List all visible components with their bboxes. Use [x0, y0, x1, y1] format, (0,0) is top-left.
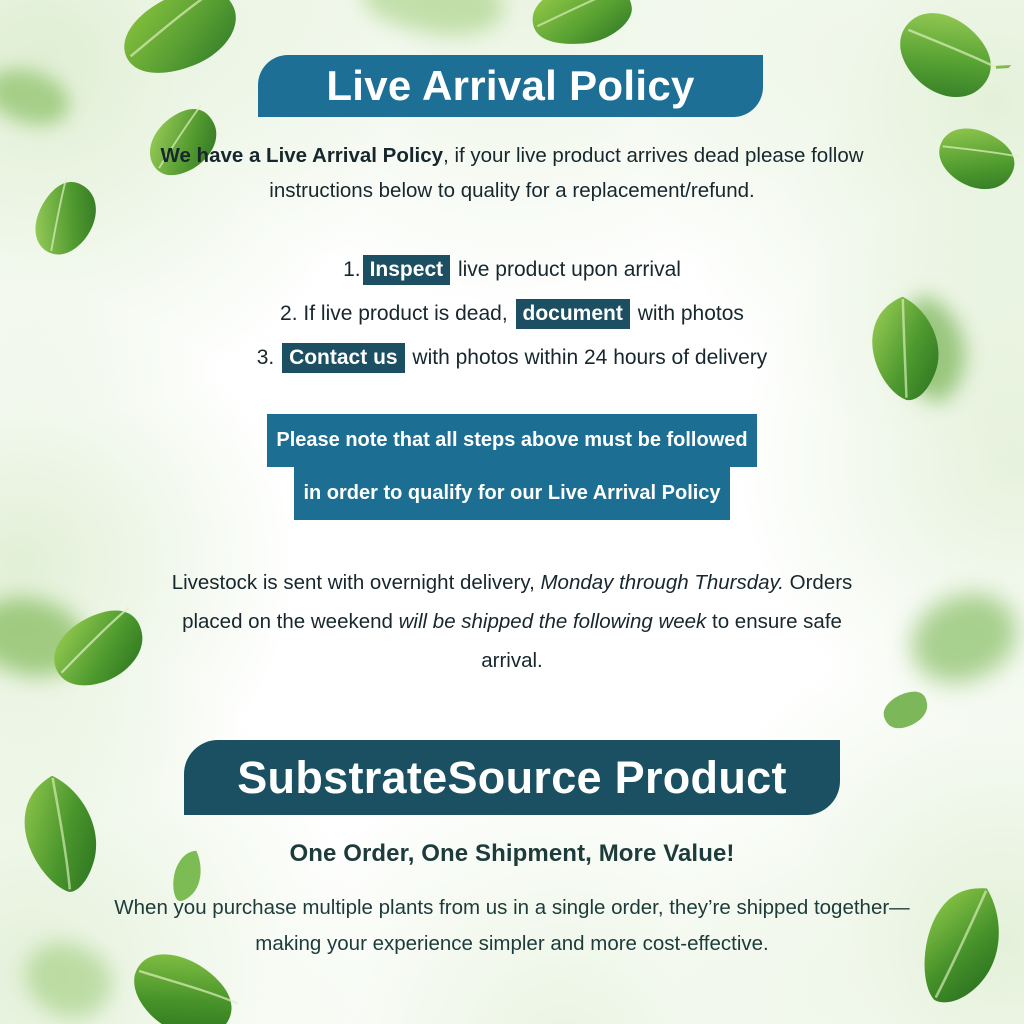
step-chip-document: document — [516, 299, 630, 329]
please-note-line-2: in order to qualify for our Live Arrival… — [294, 467, 729, 520]
step-post-text: live product upon arrival — [452, 258, 681, 281]
policy-page-content: Live Arrival Policy We have a Live Arriv… — [0, 0, 1024, 1024]
bundle-value-proposition-paragraph: When you purchase multiple plants from u… — [110, 890, 914, 962]
step-post-text: with photos within 24 hours of delivery — [407, 346, 768, 369]
step-pre-text: If live product is dead, — [298, 302, 514, 325]
list-item: 3. Contact us with photos within 24 hour… — [150, 336, 874, 380]
banner-live-arrival-policy: Live Arrival Policy — [258, 55, 763, 117]
step-number: 1. — [343, 258, 361, 281]
step-number: 2. — [280, 302, 298, 325]
bundle-tagline-heading: One Order, One Shipment, More Value! — [110, 840, 914, 868]
livestock-shipping-paragraph: Livestock is sent with overnight deliver… — [150, 563, 874, 680]
banner-substratesource-product: SubstrateSource Product — [184, 740, 840, 815]
please-note-line-1-wrap: Please note that all steps above must be… — [262, 414, 762, 467]
step-post-text: with photos — [632, 302, 744, 325]
please-note-line-2-wrap: in order to qualify for our Live Arrival… — [262, 467, 762, 520]
intro-paragraph: We have a Live Arrival Policy, if your l… — [110, 138, 914, 208]
banner-live-arrival-policy-label: Live Arrival Policy — [326, 62, 694, 110]
intro-lead-text: We have a Live Arrival Policy — [160, 144, 443, 167]
livestock-text-part-1: Livestock is sent with overnight deliver… — [172, 571, 541, 594]
livestock-italic-days: Monday through Thursday. — [540, 571, 783, 594]
list-item: 1.Inspect live product upon arrival — [150, 248, 874, 292]
list-item: 2. If live product is dead, document wit… — [150, 292, 874, 336]
please-note-line-1: Please note that all steps above must be… — [267, 414, 756, 467]
step-pre-text — [274, 346, 280, 369]
step-chip-contact-us: Contact us — [282, 343, 405, 373]
step-chip-inspect: Inspect — [363, 255, 451, 285]
banner-substratesource-product-label: SubstrateSource Product — [237, 752, 787, 804]
please-note-block: Please note that all steps above must be… — [262, 414, 762, 520]
livestock-italic-shipping: will be shipped the following week — [399, 610, 707, 633]
policy-steps-list: 1.Inspect live product upon arrival 2. I… — [150, 248, 874, 380]
step-number: 3. — [257, 346, 275, 369]
